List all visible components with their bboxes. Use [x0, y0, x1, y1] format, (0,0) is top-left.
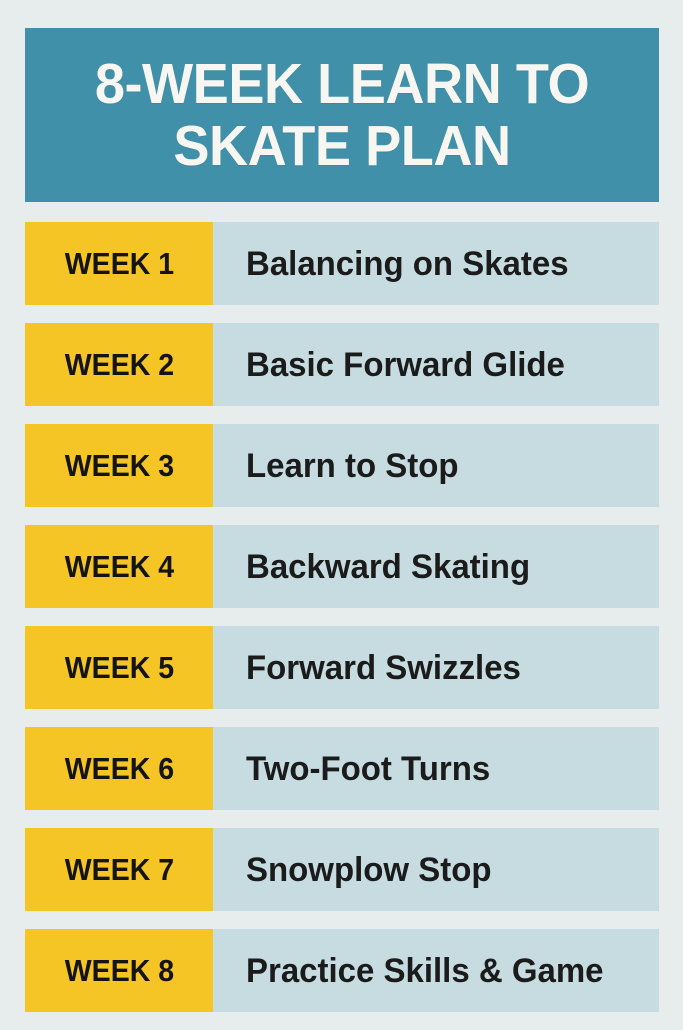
week-task-label: Practice Skills & Game — [246, 953, 603, 989]
skate-plan-poster: 8-WEEK LEARN TO SKATE PLAN WEEK 1 Balanc… — [0, 0, 683, 1024]
week-badge-2: WEEK 2 — [25, 323, 213, 406]
week-badge-6: WEEK 6 — [25, 727, 213, 810]
week-row: WEEK 2 Basic Forward Glide — [25, 323, 659, 406]
week-task-label: Balancing on Skates — [246, 246, 569, 282]
week-row: WEEK 3 Learn to Stop — [25, 424, 659, 507]
week-task-6: Two-Foot Turns — [213, 727, 659, 810]
week-row: WEEK 8 Practice Skills & Game — [25, 929, 659, 1012]
poster-header-banner: 8-WEEK LEARN TO SKATE PLAN — [25, 28, 659, 202]
week-row: WEEK 7 Snowplow Stop — [25, 828, 659, 911]
week-task-5: Forward Swizzles — [213, 626, 659, 709]
week-task-label: Basic Forward Glide — [246, 347, 565, 383]
week-task-label: Two-Foot Turns — [246, 751, 490, 787]
week-badge-8: WEEK 8 — [25, 929, 213, 1012]
week-task-label: Forward Swizzles — [246, 650, 521, 686]
week-badge-4: WEEK 4 — [25, 525, 213, 608]
week-task-8: Practice Skills & Game — [213, 929, 659, 1012]
week-badge-label: WEEK 7 — [64, 854, 173, 885]
week-row: WEEK 5 Forward Swizzles — [25, 626, 659, 709]
week-badge-7: WEEK 7 — [25, 828, 213, 911]
week-badge-label: WEEK 5 — [64, 652, 173, 683]
week-task-7: Snowplow Stop — [213, 828, 659, 911]
week-badge-label: WEEK 3 — [64, 450, 173, 481]
week-row: WEEK 1 Balancing on Skates — [25, 222, 659, 305]
week-task-label: Learn to Stop — [246, 448, 459, 484]
week-badge-label: WEEK 6 — [64, 753, 173, 784]
week-badge-label: WEEK 1 — [64, 248, 173, 279]
week-row: WEEK 4 Backward Skating — [25, 525, 659, 608]
week-badge-label: WEEK 8 — [64, 955, 173, 986]
poster-title-line-2: SKATE PLAN — [41, 115, 643, 177]
week-task-2: Basic Forward Glide — [213, 323, 659, 406]
week-badge-1: WEEK 1 — [25, 222, 213, 305]
poster-title-line-1: 8-WEEK LEARN TO — [41, 53, 643, 115]
week-badge-label: WEEK 2 — [64, 349, 173, 380]
week-task-label: Snowplow Stop — [246, 852, 491, 888]
week-row: WEEK 6 Two-Foot Turns — [25, 727, 659, 810]
week-task-4: Backward Skating — [213, 525, 659, 608]
week-badge-5: WEEK 5 — [25, 626, 213, 709]
week-badge-3: WEEK 3 — [25, 424, 213, 507]
week-badge-label: WEEK 4 — [64, 551, 173, 582]
week-task-label: Backward Skating — [246, 549, 530, 585]
week-rows-list: WEEK 1 Balancing on Skates WEEK 2 Basic … — [0, 222, 683, 1030]
week-task-3: Learn to Stop — [213, 424, 659, 507]
week-task-1: Balancing on Skates — [213, 222, 659, 305]
